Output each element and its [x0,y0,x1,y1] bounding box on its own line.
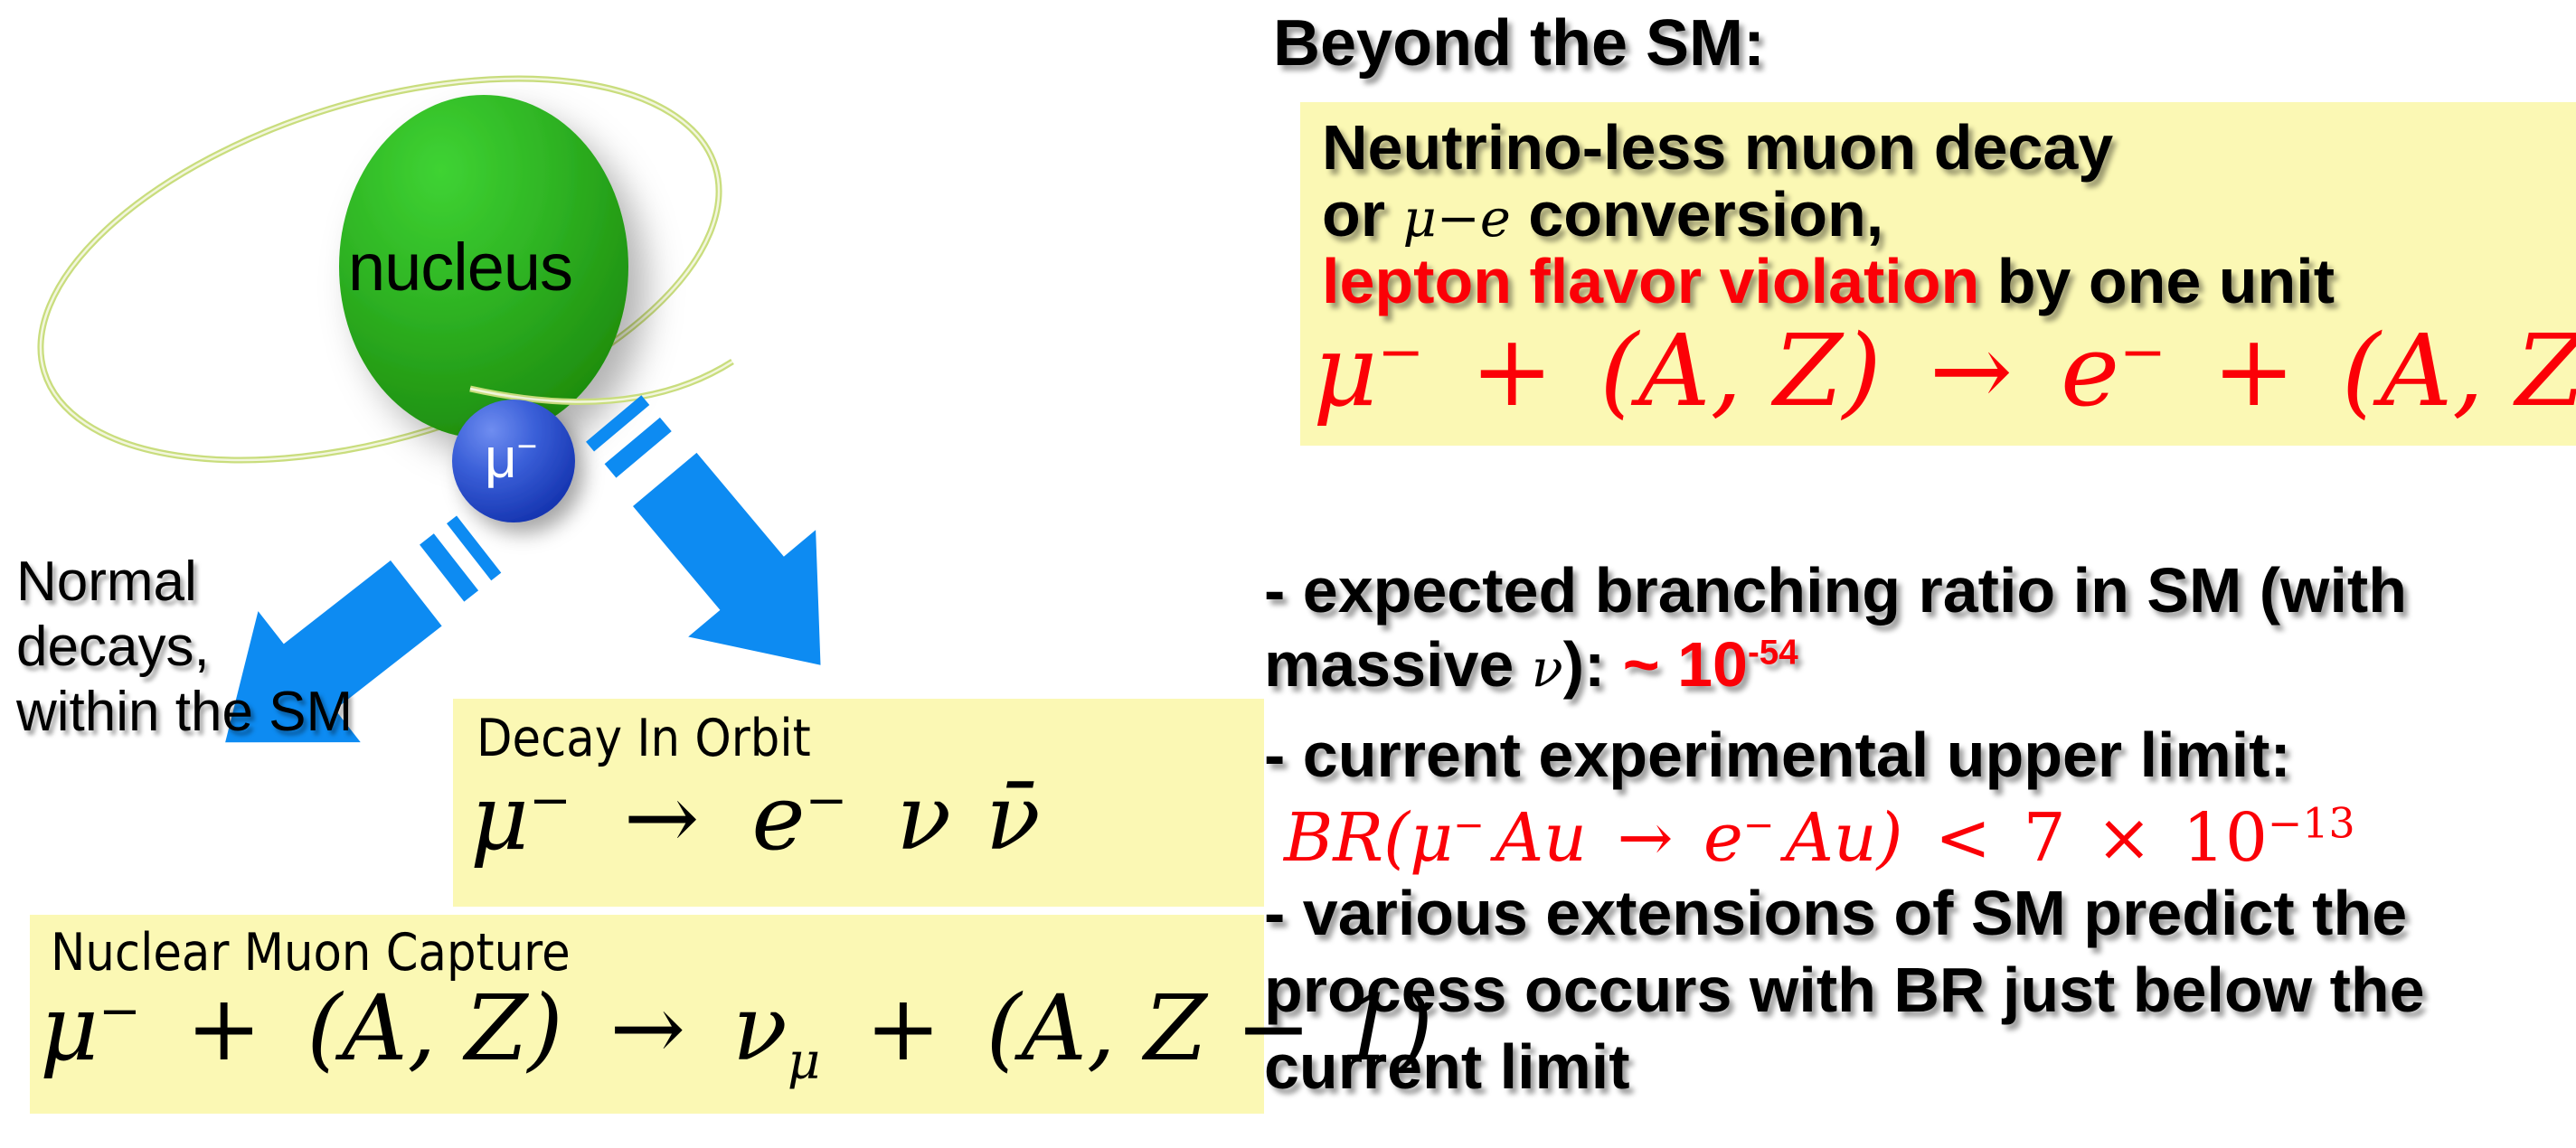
bsm-line2: or μ−e conversion, [1322,183,1883,246]
bsm-plus-1: + [1456,313,1568,428]
expected-br-value: ~ 10 [1623,629,1748,700]
decay-in-orbit-equation: μ− → e− ν ν̄ [470,773,1041,863]
nmc-plus-1: + [170,975,278,1081]
bullet-expected-branching-ratio-line2: massive ν): ~ 10-54 [1264,633,1798,696]
br-mu: μ− [1410,799,1485,877]
dio-arrow-icon: → [600,765,723,870]
dio-antinu: ν̄ [980,765,1041,870]
arrow-to-decay-in-orbit [550,365,884,719]
bullet-sm-extensions-line2: process occurs with BR just below the [1264,958,2425,1021]
dio-mu: μ− [470,765,571,870]
bsm-nu-math: ν [1532,638,1563,699]
decay-in-orbit-title: Decay In Orbit [477,713,811,765]
bsm-line2-suffix: conversion, [1511,179,1883,249]
normal-decay-line2: decays, [16,619,210,675]
bullet-sm-extensions-line3: current limit [1264,1035,1630,1098]
muon-orbit-front-arc [470,362,732,402]
nucleus-label: nucleus [348,229,572,306]
bsm-arrow-icon: → [1913,313,2029,428]
muon-symbol: μ [485,428,517,490]
normal-decay-line1: Normal [16,554,197,610]
bsm-massive-prefix: massive [1264,629,1532,700]
bsm-mu: μ− [1313,313,1424,428]
br-au-1: Au [1485,799,1587,877]
bsm-electron: e− [2061,313,2166,428]
bsm-plus-2: + [2198,313,2310,428]
br-times-icon: × [2087,799,2161,877]
bsm-az-1: (A, Z) [1599,313,1882,428]
bsm-line3-rest: by one unit [1979,246,2335,316]
br-arrow-icon: → [1608,799,1682,877]
br-au-2: Au) [1775,799,1903,877]
beyond-sm-heading: Beyond the SM: [1273,11,1765,76]
nmc-arrow-icon: → [591,975,703,1081]
bsm-line3-red: lepton flavor violation [1322,246,1979,316]
br-exponent: −13 [2268,798,2355,847]
bsm-equation: μ− + (A, Z) → e− + (A, Z) [1313,321,2576,420]
slide-root: nucleus μ− Normal decays, within the SM … [0,0,2576,1148]
bsm-line3: lepton flavor violation by one unit [1322,249,2335,313]
br-less-than: < [1924,799,2002,877]
muon-charge: − [517,427,537,466]
normal-decay-line3: within the SM [16,684,353,740]
nuclear-muon-capture-equation: μ− + (A, Z) → νμ + (A, Z − 1) [40,983,1433,1074]
muon-orbit-ellipse [0,6,764,533]
bsm-massive-suffix: ): [1563,629,1623,700]
nuclear-muon-capture-title: Nuclear Muon Capture [51,927,571,979]
bullet-sm-extensions-line1: - various extensions of SM predict the [1264,881,2407,945]
bullet-current-upper-limit-line1: - current experimental upper limit: [1264,723,2291,786]
br-base: 10 [2183,799,2268,877]
bullet-expected-branching-ratio-line1: - expected branching ratio in SM (with [1264,559,2407,622]
muon-label: μ− [485,427,537,491]
br-electron: e− [1703,799,1775,877]
current-upper-limit-formula: BR(μ−Au → e−Au) < 7 × 10−13 [1284,805,2355,871]
bsm-line2-prefix: or [1322,179,1402,249]
muon-sphere [452,400,575,522]
dio-electron: e− [751,765,847,870]
expected-br-exponent: -54 [1748,634,1798,673]
nucleus-sphere [339,95,628,438]
nmc-plus-2: + [849,975,958,1081]
dio-nu: ν [876,765,951,870]
bsm-line1: Neutrino-less muon decay [1322,116,2113,179]
bsm-az-2: (A, Z) [2342,313,2576,428]
br-coefficient: 7 [2024,799,2066,877]
bsm-line2-math: μ−e [1402,188,1510,249]
nmc-mu: μ− [40,975,141,1081]
br-label: BR( [1284,799,1410,877]
nmc-numu: νμ [732,975,820,1081]
nmc-az-1: (A, Z) [307,975,562,1081]
